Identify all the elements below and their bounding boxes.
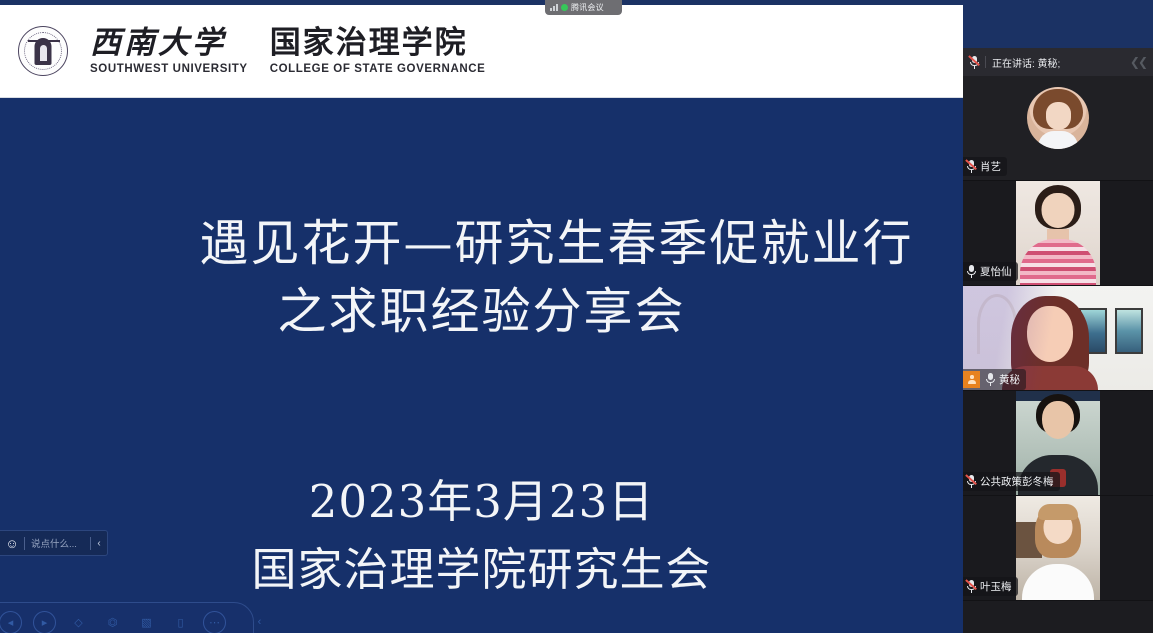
participant-label: 肖艺 bbox=[963, 157, 1007, 176]
mic-muted-icon bbox=[970, 56, 979, 69]
signal-bars-icon bbox=[550, 4, 558, 11]
participant-tile[interactable]: 公共政策彭冬梅 bbox=[963, 391, 1153, 496]
participant-tile[interactable]: 肖艺 bbox=[963, 76, 1153, 181]
university-logo: 西南大学 SOUTHWEST UNIVERSITY bbox=[90, 27, 248, 76]
chat-input[interactable]: 说点什么... bbox=[25, 536, 90, 550]
more-icon[interactable]: ⋯ bbox=[203, 611, 226, 633]
slide-footer-text: 2023年3月23日 国家治理学院研究生会 bbox=[0, 468, 963, 603]
meeting-app-name: 腾讯会议 bbox=[571, 2, 604, 13]
participant-video bbox=[1016, 496, 1100, 600]
participant-name: 夏怡仙 bbox=[980, 264, 1012, 279]
host-person-icon bbox=[963, 371, 980, 388]
whiteboard-icon[interactable]: ▯ bbox=[169, 611, 192, 633]
shared-slide: 西南大学 SOUTHWEST UNIVERSITY 国家治理学院 COLLEGE… bbox=[0, 5, 963, 633]
slide-organizer: 国家治理学院研究生会 bbox=[0, 536, 963, 604]
active-speaker-label: 正在讲话: 黄秘; bbox=[992, 55, 1124, 70]
participant-name: 叶玉梅 bbox=[980, 579, 1012, 594]
participant-video bbox=[1016, 181, 1100, 285]
college-name-cn: 国家治理学院 bbox=[270, 27, 486, 60]
divider bbox=[985, 56, 986, 68]
smiley-icon[interactable]: ☺ bbox=[0, 537, 24, 550]
annotate-pen-icon[interactable]: ◇ bbox=[67, 611, 90, 633]
mic-muted-icon bbox=[967, 580, 976, 593]
prev-slide-icon[interactable]: ◂ bbox=[0, 611, 22, 633]
camera-icon[interactable]: ▧ bbox=[135, 611, 158, 633]
meeting-status-pill[interactable]: 腾讯会议 bbox=[545, 0, 622, 15]
chat-input-bar[interactable]: ☺ 说点什么... ‹ bbox=[0, 530, 108, 556]
avatar-photo bbox=[1027, 87, 1089, 149]
slide-header: 西南大学 SOUTHWEST UNIVERSITY 国家治理学院 COLLEGE… bbox=[0, 5, 963, 98]
select-region-icon[interactable]: ⏣ bbox=[101, 611, 124, 633]
institution-logos: 西南大学 SOUTHWEST UNIVERSITY 国家治理学院 COLLEGE… bbox=[90, 27, 485, 76]
college-logo: 国家治理学院 COLLEGE OF STATE GOVERNANCE bbox=[270, 27, 486, 76]
participant-name: 公共政策彭冬梅 bbox=[980, 474, 1054, 489]
screen-share-toolbar[interactable]: ◂ ▸ ◇ ⏣ ▧ ▯ ⋯ ‹ bbox=[0, 602, 254, 633]
slide-title-line-1: 遇见花开—研究生春季促就业行 bbox=[150, 210, 963, 278]
recording-dot-icon bbox=[561, 4, 568, 11]
participants-panel: 正在讲话: 黄秘; ❮❮ 肖艺 bbox=[963, 48, 1153, 633]
slide-title-line-2: 之求职经验分享会 bbox=[0, 278, 963, 346]
collapse-icon[interactable]: ‹ bbox=[248, 611, 271, 633]
mic-muted-icon bbox=[967, 160, 976, 173]
participant-tile-active-speaker[interactable]: 黄秘 bbox=[963, 286, 1153, 391]
meeting-screen-share-window: 腾讯会议 西南大学 SOUTHWEST UNIVERSITY 国家治理学院 CO… bbox=[0, 0, 1153, 633]
double-chevron-icon[interactable]: ❮❮ bbox=[1130, 55, 1146, 69]
mic-icon bbox=[967, 265, 976, 278]
participant-label: 叶玉梅 bbox=[963, 577, 1018, 596]
slide-date: 2023年3月23日 bbox=[0, 468, 963, 536]
mic-icon bbox=[986, 373, 995, 386]
participant-label: 黄秘 bbox=[963, 369, 1026, 390]
college-name-en: COLLEGE OF STATE GOVERNANCE bbox=[270, 63, 486, 75]
next-slide-icon[interactable]: ▸ bbox=[33, 611, 56, 633]
participant-tile[interactable]: 叶玉梅 bbox=[963, 496, 1153, 601]
university-emblem-icon bbox=[18, 26, 68, 76]
chevron-left-icon[interactable]: ‹ bbox=[91, 538, 107, 549]
slide-body: 遇见花开—研究生春季促就业行 之求职经验分享会 2023年3月23日 国家治理学… bbox=[0, 98, 963, 633]
university-name-cn: 西南大学 bbox=[90, 27, 248, 60]
active-speaker-header: 正在讲话: 黄秘; ❮❮ bbox=[963, 48, 1153, 76]
participant-label: 夏怡仙 bbox=[963, 262, 1018, 281]
slide-title: 遇见花开—研究生春季促就业行 之求职经验分享会 bbox=[0, 210, 963, 345]
participant-name: 肖艺 bbox=[980, 159, 1001, 174]
mic-muted-icon bbox=[967, 475, 976, 488]
participant-tile[interactable]: 夏怡仙 bbox=[963, 181, 1153, 286]
participant-label: 公共政策彭冬梅 bbox=[963, 472, 1060, 491]
participant-name: 黄秘 bbox=[999, 372, 1020, 387]
university-name-en: SOUTHWEST UNIVERSITY bbox=[90, 63, 248, 75]
